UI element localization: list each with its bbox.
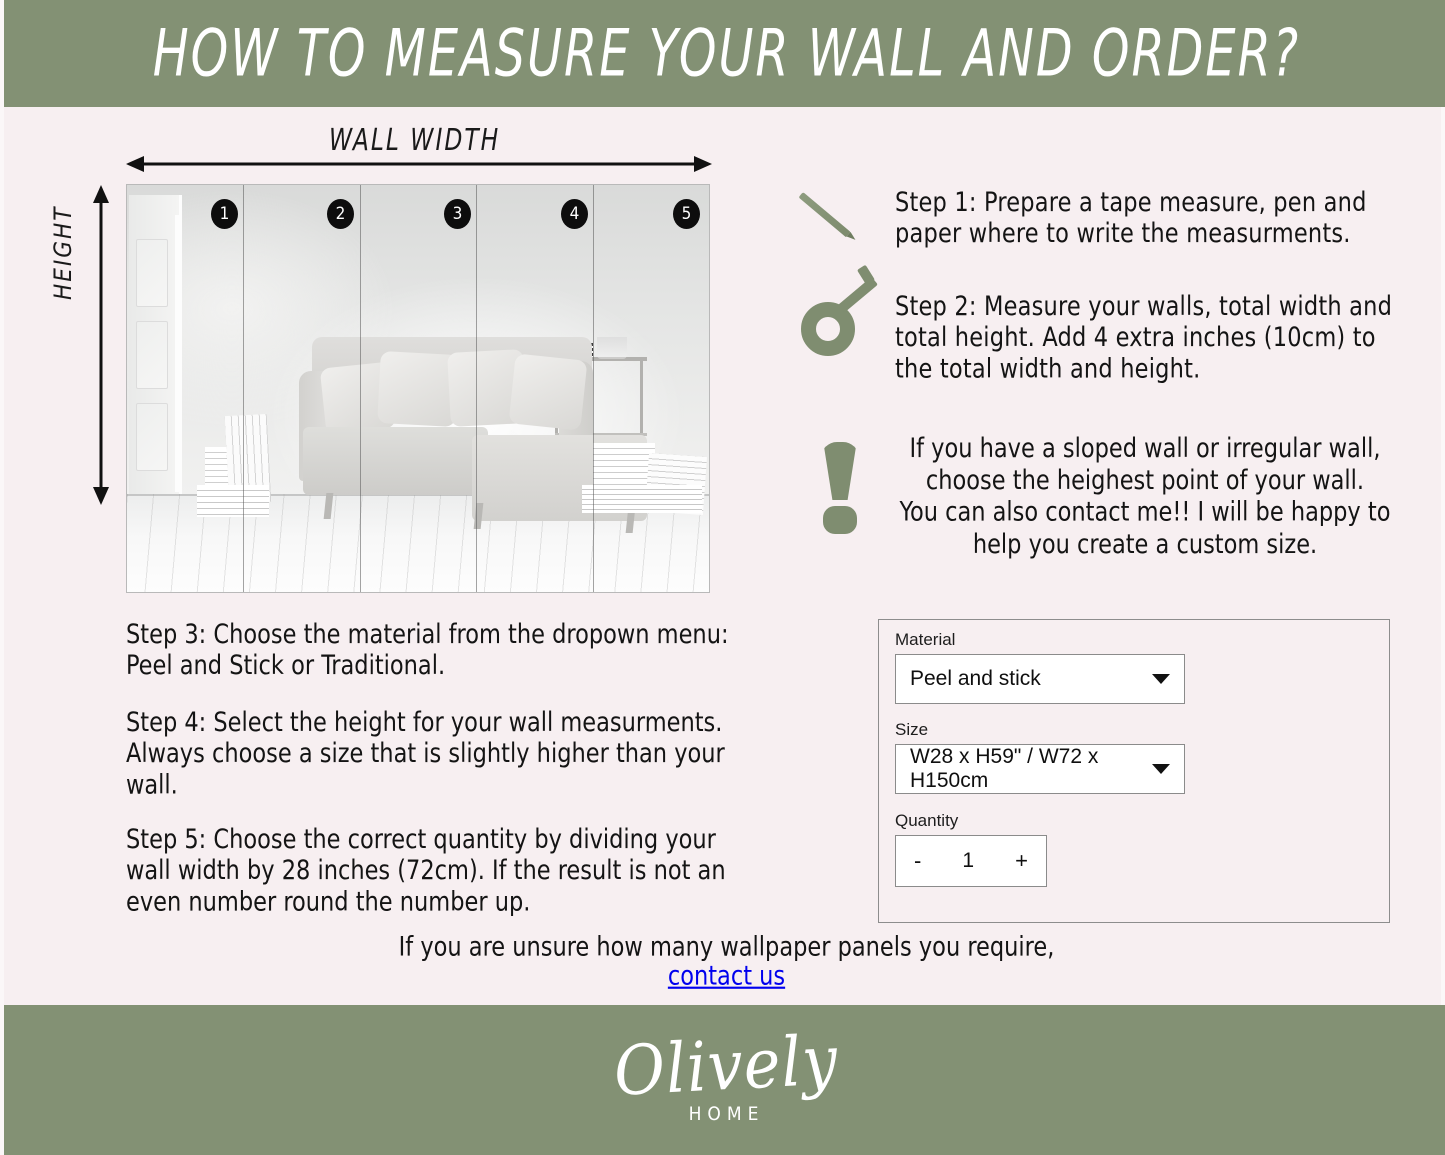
panel-number: 1 — [220, 204, 230, 224]
panel-badge-1: 1 — [211, 199, 238, 229]
panel-number: 5 — [682, 204, 692, 224]
wall-preview-image: 1 2 3 4 5 — [126, 184, 710, 593]
panel-divider — [476, 185, 477, 592]
step-4-text: Step 4: Select the height for your wall … — [126, 706, 766, 800]
material-label: Material — [895, 630, 955, 650]
door-panel — [136, 403, 168, 471]
note-line-4: help you create a custom size. — [895, 528, 1395, 560]
material-select[interactable]: Peel and stick — [895, 654, 1185, 704]
book-stack — [582, 485, 702, 513]
door-panel — [136, 321, 168, 389]
panel-number: 3 — [453, 204, 463, 224]
steps-bottom-column: Step 3: Choose the material from the dro… — [126, 618, 766, 940]
wall-height-arrow-icon — [92, 185, 110, 505]
size-label: Size — [895, 720, 928, 740]
note-line-2: choose the heighest point of your wall. — [895, 464, 1395, 496]
quantity-increment-button[interactable]: + — [1015, 850, 1028, 872]
note-line-1: If you have a sloped wall or irregular w… — [895, 432, 1395, 464]
infographic-page: HOW TO MEASURE YOUR WALL AND ORDER? WALL… — [0, 0, 1445, 1155]
panel-badge-4: 4 — [561, 199, 588, 229]
glassware — [597, 337, 627, 359]
panel-divider — [243, 185, 244, 592]
pencil-icon — [797, 186, 895, 256]
step-5-text: Step 5: Choose the correct quantity by d… — [126, 823, 766, 917]
quantity-decrement-button[interactable]: - — [914, 850, 921, 872]
step-2-row: Step 2: Measure your walls, total width … — [797, 290, 1397, 377]
book-stack — [197, 485, 269, 517]
material-value: Peel and stick — [910, 667, 1041, 691]
step-1-row: Step 1: Prepare a tape measure, pen and … — [797, 186, 1397, 256]
sofa-seat — [303, 427, 488, 495]
wall-width-arrow-icon — [126, 155, 712, 173]
page-title: HOW TO MEASURE YOUR WALL AND ORDER? — [153, 16, 1300, 91]
note-text: If you have a sloped wall or irregular w… — [895, 432, 1395, 559]
sofa-cushion — [509, 353, 588, 430]
steps-right-column: Step 1: Prepare a tape measure, pen and … — [797, 186, 1397, 411]
size-select[interactable]: W28 x H59" / W72 x H150cm — [895, 744, 1185, 794]
quantity-label: Quantity — [895, 811, 958, 831]
page-footer: Olively HOME — [4, 1005, 1445, 1155]
note-block: If you have a sloped wall or irregular w… — [797, 432, 1397, 550]
wall-width-label: WALL WIDTH — [329, 124, 500, 159]
quantity-stepper[interactable]: - 1 + — [895, 835, 1047, 887]
panel-badge-2: 2 — [327, 199, 354, 229]
tape-measure-icon — [797, 290, 895, 360]
step-3-text: Step 3: Choose the material from the dro… — [126, 618, 766, 681]
door-panel — [136, 239, 168, 307]
panel-divider — [593, 185, 594, 592]
unsure-line: If you are unsure how many wallpaper pan… — [4, 931, 1445, 963]
step-2-text: Step 2: Measure your walls, total width … — [895, 290, 1397, 384]
sofa-cushion — [377, 351, 459, 427]
door-frame-edge — [175, 215, 182, 492]
chevron-down-icon — [1152, 764, 1170, 774]
order-form-panel: Material Peel and stick Size W28 x H59" … — [878, 619, 1390, 923]
page-header: HOW TO MEASURE YOUR WALL AND ORDER? — [4, 0, 1445, 107]
exclamation-icon — [797, 432, 895, 532]
panel-divider — [360, 185, 361, 592]
brand-logo: Olively — [613, 1026, 840, 1106]
panel-number: 4 — [570, 204, 580, 224]
panel-badge-5: 5 — [673, 199, 700, 229]
panel-badge-3: 3 — [444, 199, 471, 229]
panel-number: 2 — [336, 204, 346, 224]
wall-height-label: HEIGHT — [49, 206, 77, 300]
size-value: W28 x H59" / W72 x H150cm — [910, 745, 1152, 793]
step-1-text: Step 1: Prepare a tape measure, pen and … — [895, 186, 1397, 249]
chevron-down-icon — [1152, 674, 1170, 684]
quantity-value: 1 — [962, 849, 974, 873]
note-line-3: You can also contact me!! I will be happ… — [895, 496, 1395, 528]
contact-us-link[interactable]: contact us — [668, 959, 785, 990]
